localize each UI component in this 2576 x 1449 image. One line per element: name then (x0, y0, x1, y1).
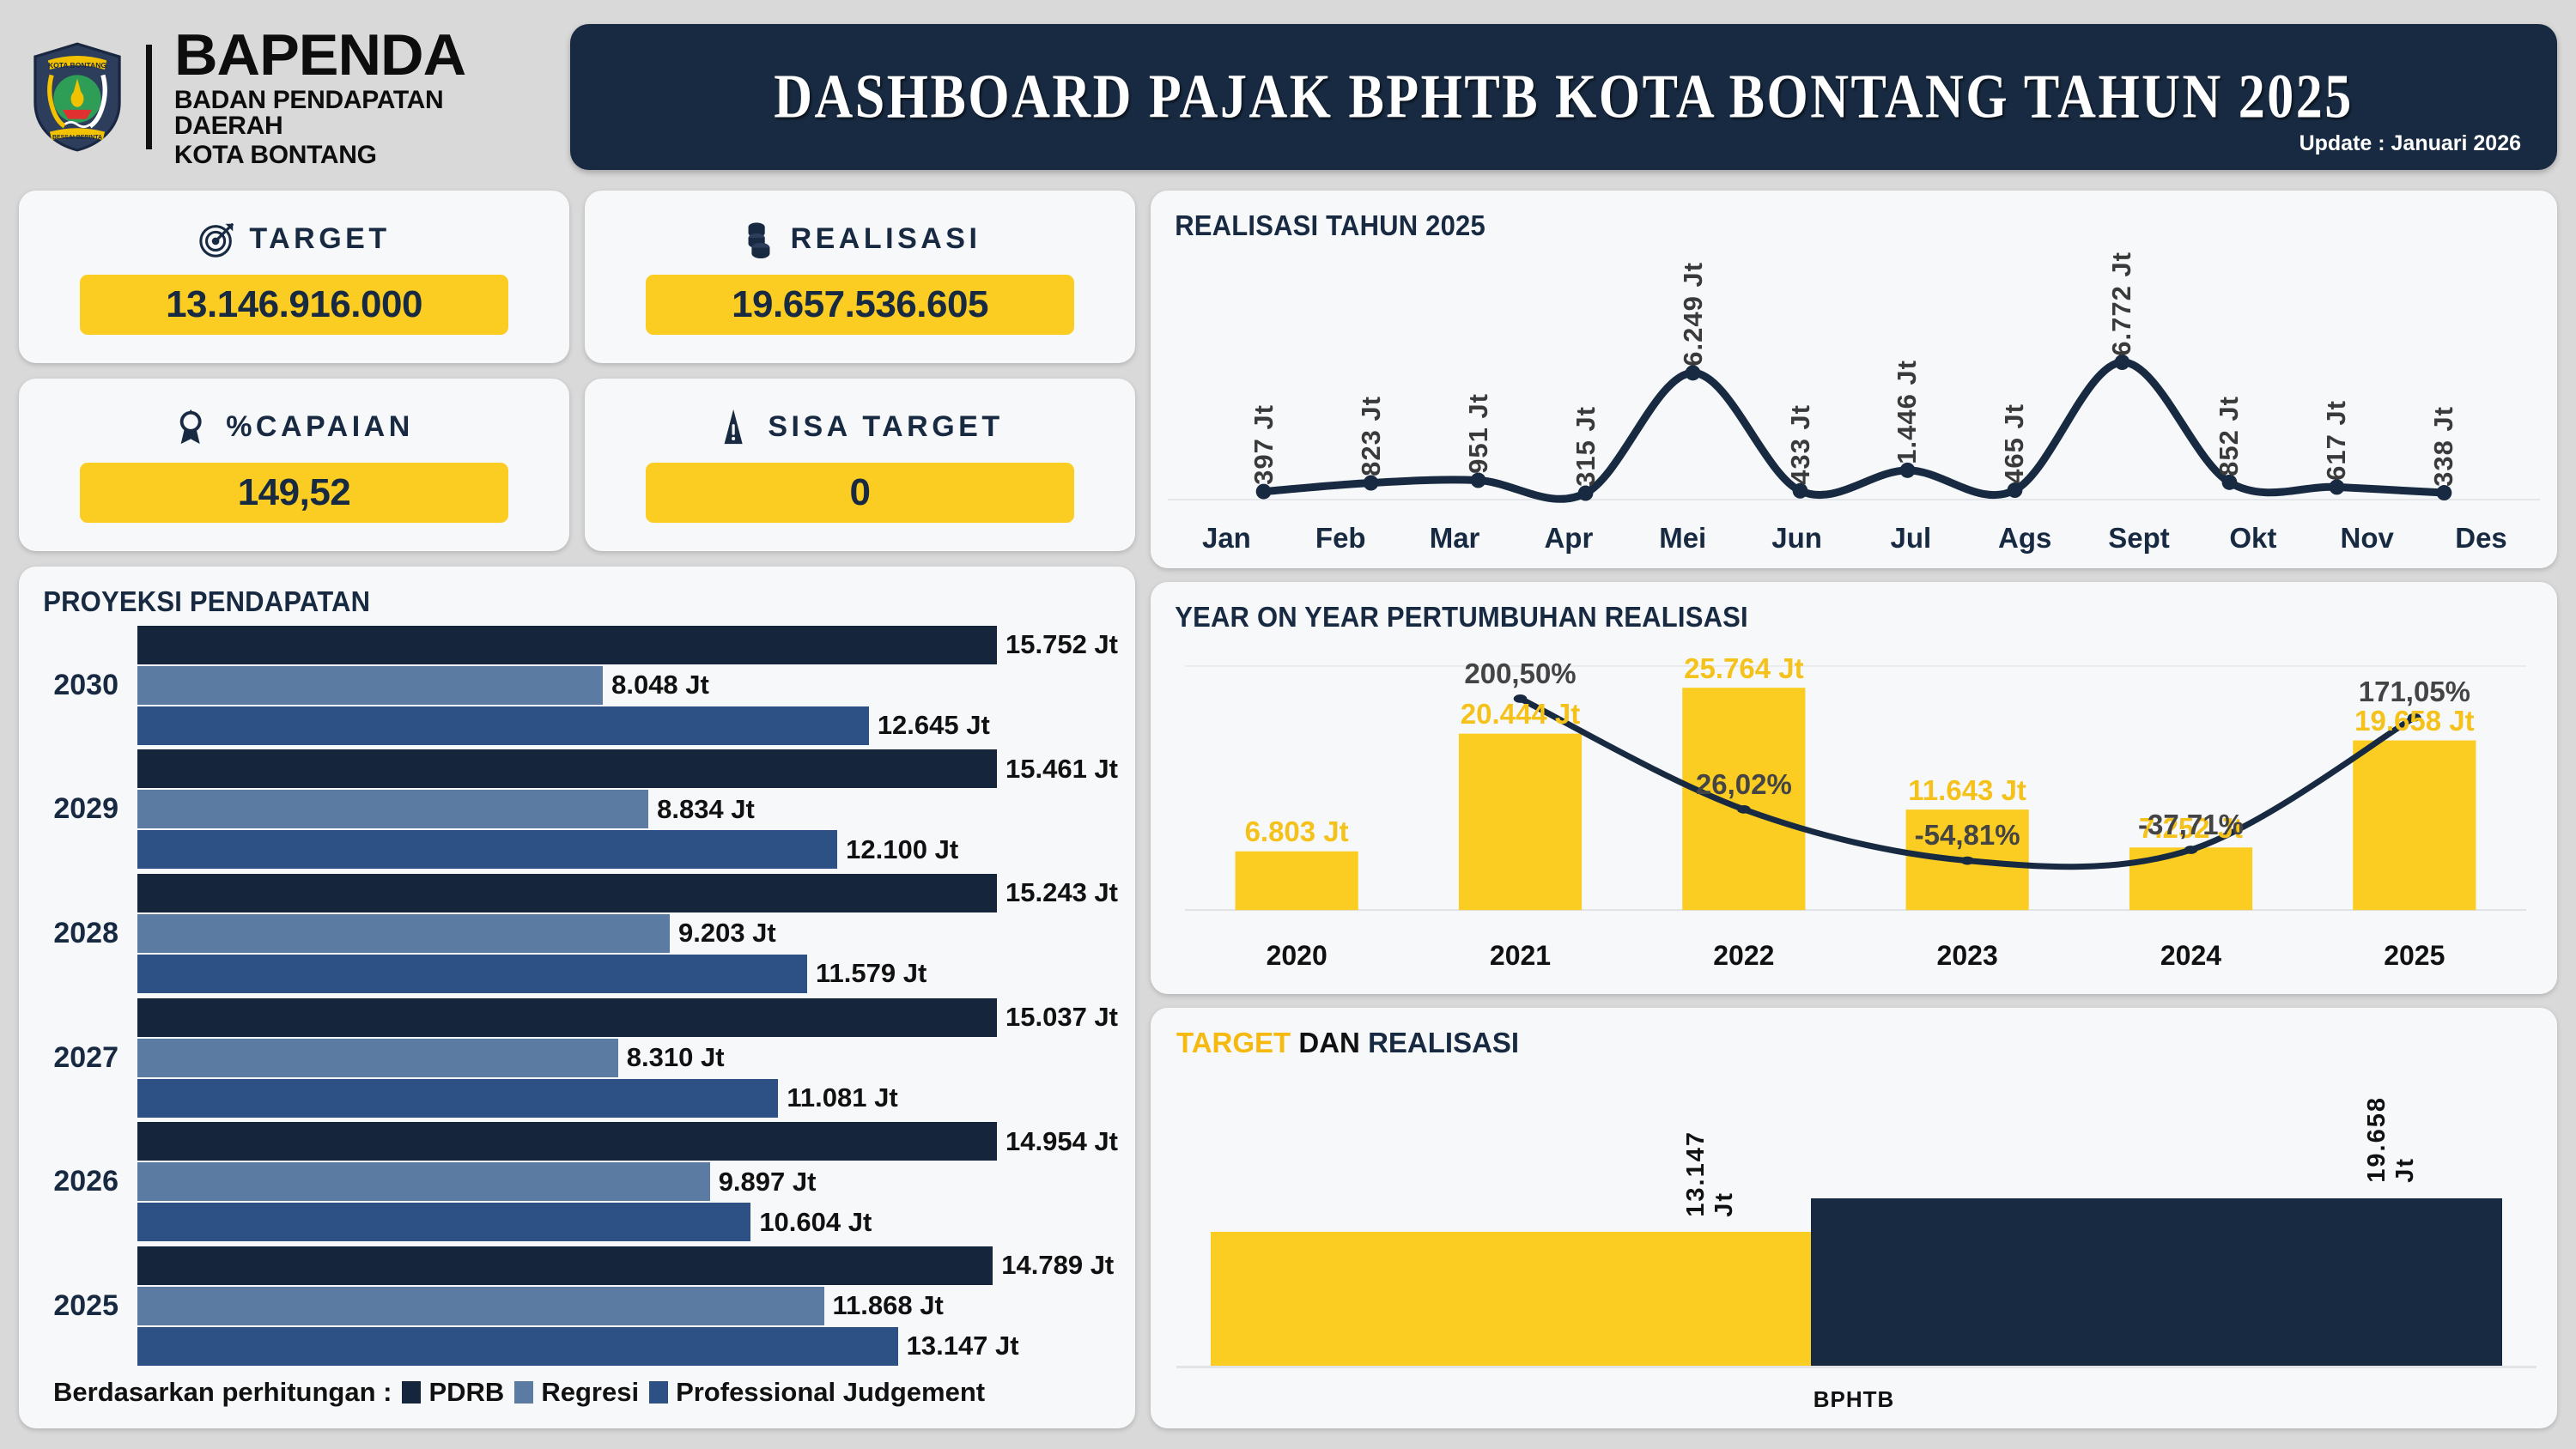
legend-prefix: Berdasarkan perhitungan : (53, 1377, 392, 1408)
proyeksi-bar-group: 15.461 Jt8.834 Jt12.100 Jt (137, 749, 1118, 869)
proyeksi-bar-row: 15.037 Jt (137, 998, 1118, 1037)
proyeksi-bar[interactable] (137, 749, 997, 788)
legend-item-judgement[interactable]: Professional Judgement (649, 1377, 985, 1408)
proyeksi-bar[interactable] (137, 790, 648, 828)
proyeksi-bar-value: 11.868 Jt (833, 1290, 944, 1321)
proyeksi-bar[interactable] (137, 830, 837, 869)
line-point-label: 6.772 Jt (2106, 252, 2137, 356)
bar-realisasi[interactable]: 19.658 Jt (1811, 1198, 2502, 1366)
month-label: Nov (2310, 522, 2424, 555)
target-realisasi-chart: 13.147 Jt 19.658 Jt (1176, 1082, 2537, 1368)
yoy-year-label: 2025 (2303, 940, 2526, 972)
proyeksi-year-label: 2025 (36, 1289, 137, 1323)
yoy-bar-value-label: 25.764 Jt (1684, 652, 1803, 685)
proyeksi-group: 202614.954 Jt9.897 Jt10.604 Jt (36, 1119, 1118, 1244)
yoy-title: YEAR ON YEAR PERTUMBUHAN REALISASI (1151, 582, 2473, 634)
proyeksi-bar-value: 12.100 Jt (846, 834, 958, 865)
kpi-label: TARGET (249, 222, 390, 256)
title-part-dan: DAN (1291, 1027, 1368, 1058)
proyeksi-bar-row: 8.048 Jt (137, 666, 1118, 705)
bar-target-label: 13.147 Jt (1682, 1131, 1739, 1217)
proyeksi-bar-value: 15.752 Jt (1005, 629, 1118, 660)
yoy-chart-svg (1185, 664, 2526, 915)
proyeksi-bar-row: 13.147 Jt (137, 1327, 1118, 1366)
line-data-point[interactable] (1793, 483, 1808, 499)
yoy-line-point[interactable] (1960, 857, 1974, 865)
kpi-card-target[interactable]: TARGET 13.146.916.000 (19, 191, 569, 363)
yoy-bar-value-label: 19.658 Jt (2354, 705, 2474, 737)
proyeksi-bar-row: 8.310 Jt (137, 1039, 1118, 1077)
legend-label-regresi: Regresi (541, 1377, 639, 1408)
target-realisasi-xlabel: BPHTB (1151, 1386, 2557, 1413)
yoy-bar[interactable] (1236, 852, 1358, 910)
line-point-label: 315 Jt (1571, 406, 1601, 487)
yoy-line-point[interactable] (2184, 846, 2198, 854)
month-label: Apr (1511, 522, 1625, 555)
proyeksi-bar-row: 15.243 Jt (137, 874, 1118, 912)
proyeksi-bar-row: 11.579 Jt (137, 955, 1118, 993)
line-data-point[interactable] (1900, 463, 1916, 478)
target-icon (197, 220, 237, 259)
line-point-label: 951 Jt (1463, 393, 1494, 474)
proyeksi-bar-value: 8.048 Jt (611, 670, 709, 700)
bar-target[interactable]: 13.147 Jt (1211, 1232, 1812, 1366)
brand-subtitle-2: KOTA BONTANG (174, 142, 551, 168)
proyeksi-bar-value: 14.954 Jt (1005, 1126, 1118, 1157)
bar-realisasi-label: 19.658 Jt (2363, 1096, 2420, 1183)
proyeksi-bar-value: 15.243 Jt (1005, 877, 1118, 908)
proyeksi-group: 203015.752 Jt8.048 Jt12.645 Jt (36, 623, 1118, 748)
proyeksi-bar[interactable] (137, 626, 997, 664)
line-data-point[interactable] (1364, 476, 1379, 491)
line-point-label: 433 Jt (1785, 404, 1816, 485)
month-label: Okt (2196, 522, 2310, 555)
month-label: Feb (1284, 522, 1398, 555)
legend-swatch-judgement (649, 1381, 668, 1404)
target-realisasi-title: TARGET DAN REALISASI (1151, 1008, 2557, 1059)
proyeksi-legend: Berdasarkan perhitungan : PDRB Regresi P… (19, 1368, 1135, 1428)
line-chart-svg (1151, 242, 2557, 525)
proyeksi-bar[interactable] (137, 666, 603, 705)
line-point-label: 852 Jt (2214, 396, 2245, 476)
month-label: Sept (2082, 522, 2196, 555)
legend-swatch-pdrb (402, 1381, 421, 1404)
proyeksi-bar[interactable] (137, 1122, 997, 1161)
kpi-value: 13.146.916.000 (166, 283, 422, 326)
kpi-value-chip: 19.657.536.605 (646, 275, 1075, 335)
brand-subtitle-1: BADAN PENDAPATAN DAERAH (174, 88, 551, 139)
proyeksi-chart: 203015.752 Jt8.048 Jt12.645 Jt202915.461… (19, 618, 1135, 1368)
svg-text:BESSAI BERINTA: BESSAI BERINTA (52, 135, 102, 141)
legend-item-regresi[interactable]: Regresi (514, 1377, 639, 1408)
proyeksi-bar-value: 15.461 Jt (1005, 754, 1118, 785)
yoy-year-label: 2021 (1408, 940, 1631, 972)
award-icon (174, 408, 214, 447)
yoy-growth-label: -54,81% (1915, 819, 2020, 852)
month-label: Jul (1854, 522, 1968, 555)
kpi-value: 149,52 (238, 471, 351, 514)
line-data-point[interactable] (1471, 473, 1486, 488)
proyeksi-bar-value: 9.203 Jt (678, 918, 776, 949)
proyeksi-bar-group: 15.243 Jt9.203 Jt11.579 Jt (137, 874, 1118, 993)
line-point-label: 397 Jt (1249, 404, 1279, 485)
kpi-value: 19.657.536.605 (732, 283, 988, 326)
yoy-axis-labels: 202020212022202320242025 (1185, 940, 2526, 972)
brand-divider (146, 45, 152, 149)
proyeksi-bar-row: 11.081 Jt (137, 1079, 1118, 1118)
yoy-growth-label: -37,71% (2138, 809, 2244, 841)
kpi-label: SISA TARGET (768, 410, 1003, 444)
line-data-point[interactable] (1686, 365, 1701, 380)
kpi-label: REALISASI (791, 222, 981, 256)
line-series-path (1264, 362, 2445, 499)
proyeksi-bar-row: 12.100 Jt (137, 830, 1118, 869)
proyeksi-bar-group: 15.752 Jt8.048 Jt12.645 Jt (137, 626, 1118, 745)
line-point-label: 6.249 Jt (1678, 262, 1709, 367)
realisasi-bulanan-chart: 397 Jt823 Jt951 Jt315 Jt6.249 Jt433 Jt1.… (1151, 242, 2557, 525)
brand-block: KOTA BONTANG BESSAI BERINTA BAPENDA BADA… (19, 26, 551, 168)
yoy-year-label: 2024 (2079, 940, 2302, 972)
legend-label-pdrb: PDRB (428, 1377, 504, 1408)
proyeksi-bar[interactable] (137, 1246, 993, 1285)
proyeksi-bar[interactable] (137, 706, 869, 745)
month-label: Ags (1968, 522, 2082, 555)
yoy-growth-label: 200,50% (1464, 658, 1576, 690)
proyeksi-bar-value: 9.897 Jt (719, 1167, 817, 1197)
coins-icon (739, 220, 779, 259)
line-point-label: 465 Jt (1999, 403, 2030, 484)
target-realisasi-card: TARGET DAN REALISASI 13.147 Jt 19.658 Jt… (1151, 1008, 2557, 1428)
line-data-point[interactable] (2330, 479, 2345, 494)
proyeksi-year-label: 2027 (36, 1041, 137, 1075)
yoy-year-label: 2020 (1185, 940, 1408, 972)
proyeksi-bar[interactable] (137, 955, 807, 993)
line-data-point[interactable] (2008, 482, 2023, 498)
line-point-label: 823 Jt (1356, 396, 1387, 476)
proyeksi-bar-group: 14.954 Jt9.897 Jt10.604 Jt (137, 1122, 1118, 1241)
proyeksi-bar-value: 13.147 Jt (907, 1331, 1019, 1361)
proyeksi-bar-value: 12.645 Jt (878, 710, 990, 741)
proyeksi-bar-row: 15.461 Jt (137, 749, 1118, 788)
proyeksi-bar-row: 15.752 Jt (137, 626, 1118, 664)
proyeksi-bar[interactable] (137, 914, 670, 953)
proyeksi-bar-value: 8.834 Jt (657, 794, 755, 825)
kpi-value-chip: 149,52 (80, 463, 509, 523)
proyeksi-bar-row: 14.789 Jt (137, 1246, 1118, 1285)
month-label: Jun (1740, 522, 1854, 555)
proyeksi-bar-row: 11.868 Jt (137, 1287, 1118, 1325)
proyeksi-bar-row: 9.203 Jt (137, 914, 1118, 953)
realisasi-bulanan-card: REALISASI TAHUN 2025 397 Jt823 Jt951 Jt3… (1151, 191, 2557, 568)
month-label: Des (2424, 522, 2538, 555)
proyeksi-group: 202815.243 Jt9.203 Jt11.579 Jt (36, 871, 1118, 996)
proyeksi-year-label: 2026 (36, 1165, 137, 1198)
dashboard-page: KOTA BONTANG BESSAI BERINTA BAPENDA BADA… (0, 0, 2576, 1449)
yoy-bar-value-label: 6.803 Jt (1245, 815, 1349, 848)
line-data-point[interactable] (2437, 485, 2452, 500)
month-label: Mar (1398, 522, 1512, 555)
brand-title: BAPENDA (174, 26, 562, 84)
x-axis-line (1176, 1366, 2537, 1368)
proyeksi-year-label: 2029 (36, 792, 137, 826)
line-data-point[interactable] (1256, 484, 1272, 500)
page-title: DASHBOARD PAJAK BPHTB KOTA BONTANG TAHUN… (774, 61, 2353, 133)
proyeksi-group: 202715.037 Jt8.310 Jt11.081 Jt (36, 996, 1118, 1120)
proyeksi-bar-value: 15.037 Jt (1005, 1002, 1118, 1033)
legend-swatch-regresi (514, 1381, 533, 1404)
proyeksi-group: 202915.461 Jt8.834 Jt12.100 Jt (36, 748, 1118, 872)
line-data-point[interactable] (2222, 475, 2238, 490)
line-point-label: 1.446 Jt (1892, 360, 1923, 464)
month-label: Mei (1625, 522, 1740, 555)
proyeksi-bar-value: 10.604 Jt (759, 1207, 872, 1238)
yoy-year-label: 2022 (1632, 940, 1856, 972)
proyeksi-bar-row: 12.645 Jt (137, 706, 1118, 745)
yoy-bar[interactable] (1459, 734, 1582, 910)
proyeksi-bar-value: 11.579 Jt (816, 958, 927, 989)
svg-text:KOTA BONTANG: KOTA BONTANG (48, 61, 106, 70)
proyeksi-bar[interactable] (137, 1203, 750, 1241)
yoy-growth-label: 171,05% (2359, 676, 2470, 708)
proyeksi-bar[interactable] (137, 998, 997, 1037)
yoy-line-point[interactable] (1737, 805, 1751, 814)
title-part-target: TARGET (1176, 1027, 1291, 1058)
proyeksi-group: 202514.789 Jt11.868 Jt13.147 Jt (36, 1244, 1118, 1368)
title-part-realisasi: REALISASI (1368, 1027, 1519, 1058)
line-data-point[interactable] (2115, 355, 2130, 370)
proyeksi-bar-group: 14.789 Jt11.868 Jt13.147 Jt (137, 1246, 1118, 1366)
line-data-point[interactable] (1578, 486, 1594, 501)
yoy-chart: 6.803 Jt20.444 Jt25.764 Jt11.643 Jt7.252… (1185, 664, 2526, 915)
yoy-bar-value-label: 20.444 Jt (1461, 698, 1580, 731)
realisasi-bulanan-title: REALISASI TAHUN 2025 (1151, 191, 2473, 242)
kpi-grid: TARGET 13.146.916.000 (19, 191, 1135, 551)
proyeksi-bar-row: 14.954 Jt (137, 1122, 1118, 1161)
dashboard-header: KOTA BONTANG BESSAI BERINTA BAPENDA BADA… (19, 15, 2557, 179)
month-label: Jan (1170, 522, 1284, 555)
proyeksi-bar-value: 14.789 Jt (1001, 1250, 1114, 1281)
proyeksi-bar-value: 8.310 Jt (627, 1042, 725, 1073)
yoy-year-label: 2023 (1856, 940, 2079, 972)
yoy-bar-value-label: 11.643 Jt (1908, 774, 2026, 807)
line-point-label: 617 Jt (2321, 400, 2352, 481)
alert-icon (716, 408, 756, 447)
proyeksi-bar-group: 15.037 Jt8.310 Jt11.081 Jt (137, 998, 1118, 1118)
yoy-bar[interactable] (2129, 847, 2252, 910)
proyeksi-bar[interactable] (137, 1287, 824, 1325)
update-timestamp: Update : Januari 2026 (2300, 131, 2521, 156)
yoy-bar[interactable] (2353, 741, 2476, 911)
proyeksi-bar-row: 10.604 Jt (137, 1203, 1118, 1241)
proyeksi-year-label: 2028 (36, 917, 137, 950)
proyeksi-bar[interactable] (137, 874, 997, 912)
proyeksi-bar[interactable] (137, 1079, 778, 1118)
proyeksi-bar[interactable] (137, 1162, 710, 1201)
proyeksi-bar[interactable] (137, 1327, 898, 1366)
kota-bontang-crest-icon: KOTA BONTANG BESSAI BERINTA (31, 42, 124, 152)
proyeksi-pendapatan-card: PROYEKSI PENDAPATAN 203015.752 Jt8.048 J… (19, 567, 1135, 1428)
legend-label-judgement: Professional Judgement (676, 1377, 985, 1408)
proyeksi-bar[interactable] (137, 1039, 618, 1077)
legend-item-pdrb[interactable]: PDRB (402, 1377, 504, 1408)
proyeksi-title: PROYEKSI PENDAPATAN (19, 567, 1068, 618)
kpi-card-sisa-target[interactable]: SISA TARGET 0 (585, 379, 1135, 551)
kpi-label: %CAPAIAN (226, 410, 414, 444)
proyeksi-bar-row: 9.897 Jt (137, 1162, 1118, 1201)
yoy-growth-label: 26,02% (1696, 768, 1792, 801)
kpi-card-realisasi[interactable]: REALISASI 19.657.536.605 (585, 191, 1135, 363)
kpi-card-capaian[interactable]: %CAPAIAN 149,52 (19, 379, 569, 551)
proyeksi-year-label: 2030 (36, 669, 137, 702)
line-point-label: 338 Jt (2428, 406, 2459, 487)
kpi-value-chip: 0 (646, 463, 1075, 523)
kpi-value: 0 (850, 471, 871, 514)
proyeksi-bar-value: 11.081 Jt (787, 1082, 897, 1113)
dashboard-title-bar: DASHBOARD PAJAK BPHTB KOTA BONTANG TAHUN… (570, 24, 2557, 170)
proyeksi-bar-row: 8.834 Jt (137, 790, 1118, 828)
kpi-value-chip: 13.146.916.000 (80, 275, 509, 335)
month-axis-labels: JanFebMarAprMeiJunJulAgsSeptOktNovDes (1151, 522, 2557, 555)
yoy-card: YEAR ON YEAR PERTUMBUHAN REALISASI 6.803… (1151, 582, 2557, 994)
